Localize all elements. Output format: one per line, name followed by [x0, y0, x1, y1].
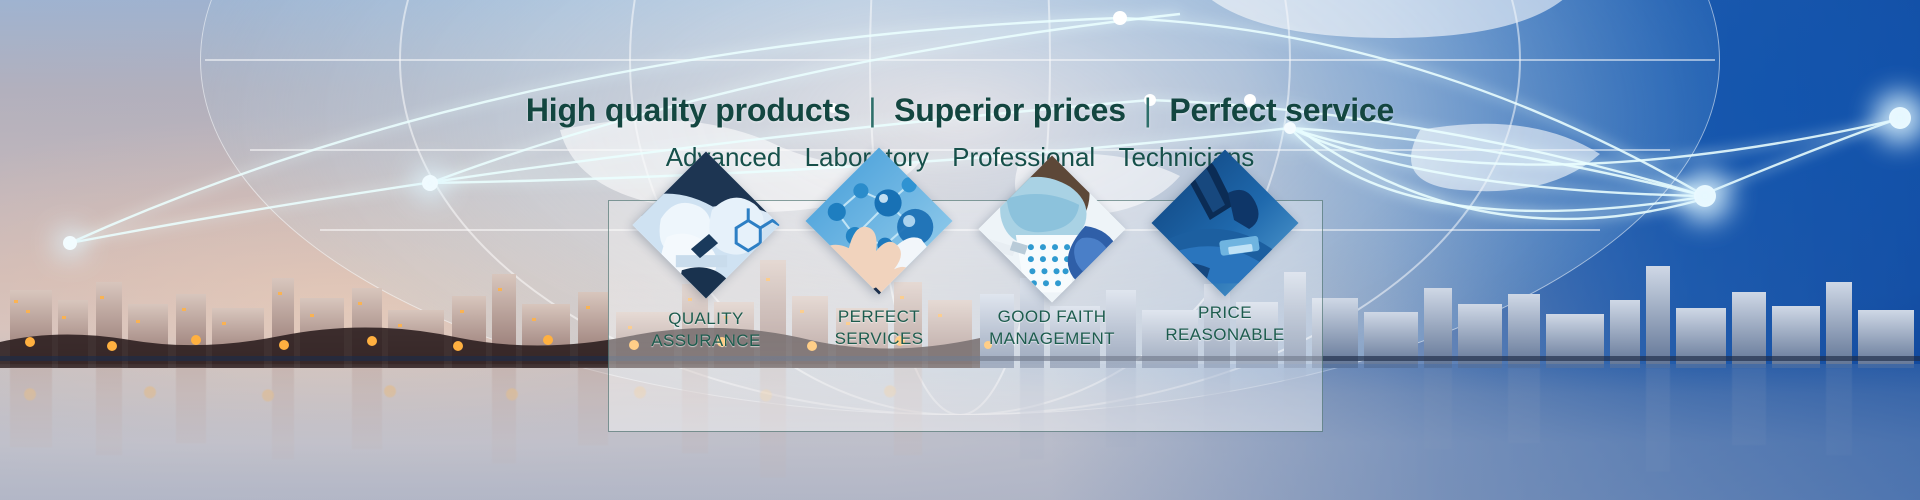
page-subtitle: Advanced Laboratory Professional Technic… — [0, 142, 1920, 173]
feature-card-line1: PRICE — [1141, 302, 1309, 324]
feature-card-perfect-services[interactable]: PERFECT SERVICES — [795, 200, 963, 351]
feature-card-good-faith-management[interactable]: GOOD FAITH MANAGEMENT — [968, 200, 1136, 351]
feature-card-quality-assurance[interactable]: QUALITY ASSURANCE — [622, 200, 790, 353]
feature-card-line2: SERVICES — [795, 328, 963, 350]
headline-part-2: Superior prices — [894, 92, 1126, 128]
feature-card-line1: GOOD FAITH — [968, 306, 1136, 328]
headline-part-3: Perfect service — [1169, 92, 1394, 128]
feature-card-line2: MANAGEMENT — [968, 328, 1136, 350]
microscope-scientist-diamond-icon — [651, 170, 761, 280]
subtitle-word-3: Professional — [944, 142, 1103, 172]
feature-card-label: GOOD FAITH MANAGEMENT — [968, 306, 1136, 351]
lab-technician-pipette-diamond-icon — [997, 174, 1107, 284]
microscope-closeup-diamond-icon — [1170, 168, 1280, 278]
feature-card-price-reasonable[interactable]: PRICE REASONABLE — [1141, 200, 1309, 347]
page-title: High quality products | Superior prices … — [0, 92, 1920, 129]
headline-separator-2: | — [1135, 92, 1161, 128]
feature-card-label: PERFECT SERVICES — [795, 306, 963, 351]
hand-molecule-network-diamond-icon — [824, 166, 934, 276]
headline-part-1: High quality products — [526, 92, 851, 128]
headline-separator-1: | — [859, 92, 885, 128]
feature-card-line1: QUALITY — [622, 308, 790, 330]
feature-card-line2: REASONABLE — [1141, 324, 1309, 346]
subtitle-word-1: Advanced — [658, 142, 790, 172]
feature-card-line1: PERFECT — [795, 306, 963, 328]
marketing-banner: High quality products | Superior prices … — [0, 0, 1920, 500]
feature-card-list: QUALITY ASSURANCE — [608, 200, 1323, 432]
feature-card-label: QUALITY ASSURANCE — [622, 308, 790, 353]
feature-card-label: PRICE REASONABLE — [1141, 302, 1309, 347]
feature-card-line2: ASSURANCE — [622, 330, 790, 352]
